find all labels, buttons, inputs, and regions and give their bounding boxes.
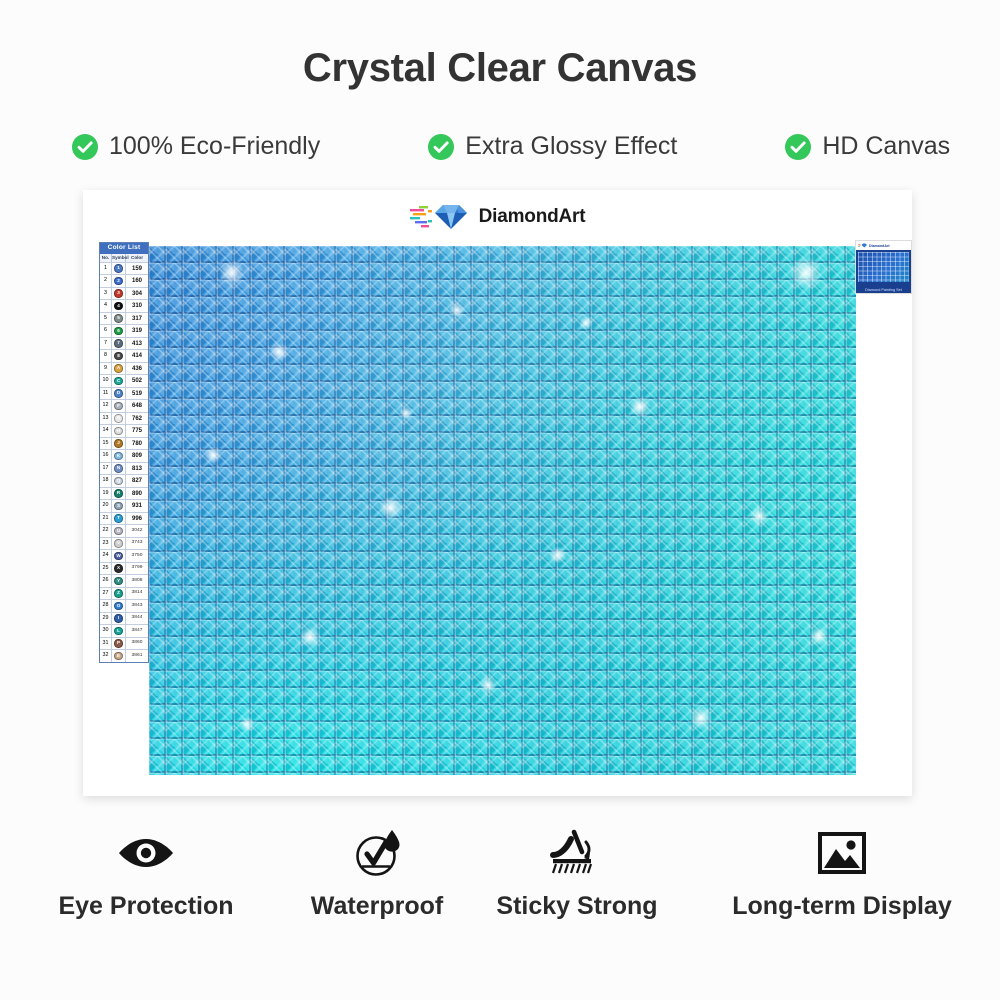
color-list-table: Color List No. Symbol Color 111592216033… — [99, 242, 149, 663]
table-row: 16K809 — [100, 449, 148, 462]
cell-symbol: H — [112, 425, 126, 437]
cell-color-code: 3847 — [126, 625, 148, 637]
cell-no: 6 — [100, 325, 112, 337]
cell-symbol: 1 — [112, 263, 126, 275]
symbol-badge-icon: 3 — [114, 289, 122, 297]
table-row: 77413 — [100, 337, 148, 350]
symbol-badge-icon: 4 — [114, 302, 122, 310]
cell-no: 27 — [100, 588, 112, 600]
table-row: 30L3847 — [100, 624, 148, 637]
benefit-label: Long-term Display — [692, 892, 992, 921]
picture-icon — [692, 826, 992, 880]
cell-color-code: 304 — [126, 288, 148, 300]
cell-color-code: 775 — [126, 425, 148, 437]
symbol-badge-icon: I — [114, 614, 122, 622]
table-row: 12F648 — [100, 399, 148, 412]
cell-symbol: J — [112, 438, 126, 450]
cell-symbol: D — [112, 388, 126, 400]
cell-no: 21 — [100, 513, 112, 525]
table-row: 26Y3808 — [100, 574, 148, 587]
cell-no: 32 — [100, 650, 112, 662]
feature-item-eco-friendly: 100% Eco-Friendly — [72, 132, 320, 161]
symbol-badge-icon: 6 — [114, 327, 122, 335]
cell-color-code: 996 — [126, 513, 148, 525]
table-row: 14H775 — [100, 424, 148, 437]
cell-symbol: V — [112, 538, 126, 550]
table-row: 44310 — [100, 299, 148, 312]
cell-color-code: 3844 — [126, 613, 148, 625]
cell-color-code: 3861 — [126, 650, 148, 662]
cell-symbol: 3 — [112, 288, 126, 300]
diamond-logo-icon — [410, 202, 470, 232]
symbol-badge-icon: P — [114, 639, 122, 647]
cell-no: 8 — [100, 350, 112, 362]
table-row: 22U3042 — [100, 524, 148, 537]
waterdrop-check-icon — [292, 826, 462, 880]
cell-no: 19 — [100, 488, 112, 500]
cell-color-code: 827 — [126, 475, 148, 487]
cell-no: 9 — [100, 363, 112, 375]
benefit-item-waterproof: Waterproof — [292, 826, 462, 921]
cell-no: 25 — [100, 563, 112, 575]
benefit-item-sticky-strong: Sticky Strong — [462, 826, 692, 921]
table-row: 10C502 — [100, 374, 148, 387]
cell-color-code: 813 — [126, 463, 148, 475]
cell-symbol: X — [112, 563, 126, 575]
cell-symbol: S — [112, 500, 126, 512]
cell-color-code: 3750 — [126, 550, 148, 562]
table-row: 31P3860 — [100, 637, 148, 650]
table-row: 17N813 — [100, 462, 148, 475]
brand-name: DiamondArt — [479, 206, 586, 228]
cell-color-code: 809 — [126, 450, 148, 462]
cell-no: 11 — [100, 388, 112, 400]
cell-color-code: 317 — [126, 313, 148, 325]
symbol-badge-icon: F — [114, 402, 122, 410]
cell-color-code: 931 — [126, 500, 148, 512]
symbol-badge-icon: G — [114, 414, 122, 422]
check-circle-icon — [72, 134, 98, 160]
table-row: 24W3750 — [100, 549, 148, 562]
cell-symbol: Y — [112, 575, 126, 587]
cell-no: 10 — [100, 375, 112, 387]
page-title: Crystal Clear Canvas — [0, 46, 1000, 91]
symbol-badge-icon: U — [114, 527, 122, 535]
symbol-badge-icon: O — [114, 602, 122, 610]
table-row: 29I3844 — [100, 612, 148, 625]
feature-item-hd-canvas: HD Canvas — [785, 132, 950, 161]
cell-symbol: G — [112, 413, 126, 425]
cell-symbol: 4 — [112, 300, 126, 312]
cell-symbol: C — [112, 375, 126, 387]
cell-color-code: 3860 — [126, 638, 148, 650]
table-row: 20S931 — [100, 499, 148, 512]
column-header-no: No. — [100, 254, 112, 262]
symbol-badge-icon: N — [114, 464, 122, 472]
symbol-badge-icon: A — [114, 364, 122, 372]
cell-symbol: 8 — [112, 350, 126, 362]
cell-no: 4 — [100, 300, 112, 312]
symbol-badge-icon: 1 — [114, 264, 122, 272]
symbol-badge-icon: E — [114, 652, 122, 660]
feature-label: Extra Glossy Effect — [465, 132, 677, 161]
symbol-badge-icon: D — [114, 389, 122, 397]
benefit-item-long-term-display: Long-term Display — [692, 826, 992, 921]
column-header-color: Color — [126, 254, 148, 262]
column-header-symbol: Symbol — [112, 254, 126, 262]
cell-color-code: 3042 — [126, 525, 148, 537]
symbol-badge-icon: J — [114, 439, 122, 447]
symbol-badge-icon: H — [114, 427, 122, 435]
color-list-body: 1115922160333044431055317663197741388414… — [100, 262, 148, 662]
feature-list: 100% Eco-Friendly Extra Glossy Effect HD… — [0, 132, 1000, 161]
cell-symbol: R — [112, 488, 126, 500]
cell-color-code: 502 — [126, 375, 148, 387]
table-row: 15J780 — [100, 437, 148, 450]
cell-no: 30 — [100, 625, 112, 637]
feature-label: HD Canvas — [822, 132, 950, 161]
cell-color-code: 3814 — [126, 588, 148, 600]
cell-symbol: F — [112, 400, 126, 412]
cell-no: 16 — [100, 450, 112, 462]
cell-no: 26 — [100, 575, 112, 587]
color-list-title: Color List — [100, 243, 148, 254]
symbol-badge-icon: T — [114, 514, 122, 522]
cell-no: 7 — [100, 338, 112, 350]
cell-no: 17 — [100, 463, 112, 475]
feature-item-glossy-effect: Extra Glossy Effect — [428, 132, 677, 161]
benefit-label: Eye Protection — [0, 892, 292, 921]
cell-color-code: 310 — [126, 300, 148, 312]
mosaic-grid-layer — [149, 246, 856, 775]
cell-no: 12 — [100, 400, 112, 412]
table-row: 88414 — [100, 349, 148, 362]
table-row: 22160 — [100, 274, 148, 287]
cell-no: 3 — [100, 288, 112, 300]
cell-symbol: I — [112, 613, 126, 625]
table-row: 28O3843 — [100, 599, 148, 612]
table-row: 23V3743 — [100, 537, 148, 550]
table-row: 32E3861 — [100, 649, 148, 662]
symbol-badge-icon: S — [114, 502, 122, 510]
benefit-label: Waterproof — [292, 892, 462, 921]
table-row: 25X3799 — [100, 562, 148, 575]
thumbnail-brand-name: DiamondArt — [869, 244, 890, 248]
color-list-header: No. Symbol Color — [100, 254, 148, 262]
table-row: 11159 — [100, 262, 148, 275]
cell-no: 18 — [100, 475, 112, 487]
cell-no: 13 — [100, 413, 112, 425]
check-circle-icon — [785, 134, 811, 160]
cell-symbol: A — [112, 363, 126, 375]
cell-color-code: 780 — [126, 438, 148, 450]
cell-no: 31 — [100, 638, 112, 650]
cell-symbol: E — [112, 650, 126, 662]
symbol-badge-icon: 2 — [114, 277, 122, 285]
cell-symbol: 5 — [112, 313, 126, 325]
table-row: 55317 — [100, 312, 148, 325]
cell-no: 15 — [100, 438, 112, 450]
table-row: 21T996 — [100, 512, 148, 525]
cell-symbol: O — [112, 600, 126, 612]
cell-symbol: L — [112, 625, 126, 637]
cell-no: 28 — [100, 600, 112, 612]
symbol-badge-icon: Z — [114, 589, 122, 597]
table-row: 18Q827 — [100, 474, 148, 487]
cell-color-code: 3808 — [126, 575, 148, 587]
cell-color-code: 160 — [126, 275, 148, 287]
symbol-badge-icon: Q — [114, 477, 122, 485]
symbol-badge-icon: Y — [114, 577, 122, 585]
sticky-brush-icon — [462, 826, 692, 880]
cell-color-code: 762 — [126, 413, 148, 425]
cell-no: 29 — [100, 613, 112, 625]
cell-no: 14 — [100, 425, 112, 437]
cell-color-code: 159 — [126, 263, 148, 275]
cell-color-code: 519 — [126, 388, 148, 400]
symbol-badge-icon: V — [114, 539, 122, 547]
product-thumbnail-card: DiamondArt Diamond Painting Set — [855, 240, 912, 294]
symbol-badge-icon: C — [114, 377, 122, 385]
cell-symbol: 2 — [112, 275, 126, 287]
cell-no: 23 — [100, 538, 112, 550]
cell-symbol: 7 — [112, 338, 126, 350]
table-row: 27Z3814 — [100, 587, 148, 600]
table-row: 11D519 — [100, 387, 148, 400]
symbol-badge-icon: 5 — [114, 314, 122, 322]
eye-icon — [0, 826, 292, 880]
symbol-badge-icon: R — [114, 489, 122, 497]
cell-symbol: P — [112, 638, 126, 650]
cell-symbol: U — [112, 525, 126, 537]
cell-no: 20 — [100, 500, 112, 512]
table-row: 9A436 — [100, 362, 148, 375]
cell-symbol: Z — [112, 588, 126, 600]
symbol-badge-icon: 7 — [114, 339, 122, 347]
cell-color-code: 413 — [126, 338, 148, 350]
product-canvas-frame: DiamondArt Color List No. Symbol Color 1… — [83, 190, 912, 796]
thumbnail-caption: Diamond Painting Set — [856, 288, 911, 292]
cell-color-code: 3743 — [126, 538, 148, 550]
cell-symbol: N — [112, 463, 126, 475]
symbol-badge-icon: K — [114, 452, 122, 460]
symbol-badge-icon: W — [114, 552, 122, 560]
cell-symbol: K — [112, 450, 126, 462]
diamond-mosaic-art — [149, 246, 856, 775]
brand-lockup: DiamondArt — [83, 202, 912, 232]
cell-color-code: 319 — [126, 325, 148, 337]
cell-no: 1 — [100, 263, 112, 275]
cell-color-code: 414 — [126, 350, 148, 362]
cell-symbol: Q — [112, 475, 126, 487]
benefit-label: Sticky Strong — [462, 892, 692, 921]
table-row: 33304 — [100, 287, 148, 300]
benefit-item-eye-protection: Eye Protection — [0, 826, 292, 921]
cell-symbol: T — [112, 513, 126, 525]
table-row: 19R890 — [100, 487, 148, 500]
feature-label: 100% Eco-Friendly — [109, 132, 320, 161]
cell-symbol: W — [112, 550, 126, 562]
cell-no: 5 — [100, 313, 112, 325]
check-circle-icon — [428, 134, 454, 160]
symbol-badge-icon: 8 — [114, 352, 122, 360]
thumbnail-header: DiamondArt — [856, 241, 911, 250]
cell-no: 24 — [100, 550, 112, 562]
diamond-logo-icon — [858, 243, 867, 248]
cell-color-code: 648 — [126, 400, 148, 412]
cell-color-code: 3799 — [126, 563, 148, 575]
table-row: 66319 — [100, 324, 148, 337]
symbol-badge-icon: X — [114, 564, 122, 572]
cell-color-code: 890 — [126, 488, 148, 500]
thumbnail-art — [858, 252, 909, 282]
cell-symbol: 6 — [112, 325, 126, 337]
symbol-badge-icon: L — [114, 627, 122, 635]
table-row: 13G762 — [100, 412, 148, 425]
cell-color-code: 436 — [126, 363, 148, 375]
benefit-list: Eye Protection Waterproof — [0, 826, 1000, 921]
cell-color-code: 3843 — [126, 600, 148, 612]
cell-no: 2 — [100, 275, 112, 287]
cell-no: 22 — [100, 525, 112, 537]
